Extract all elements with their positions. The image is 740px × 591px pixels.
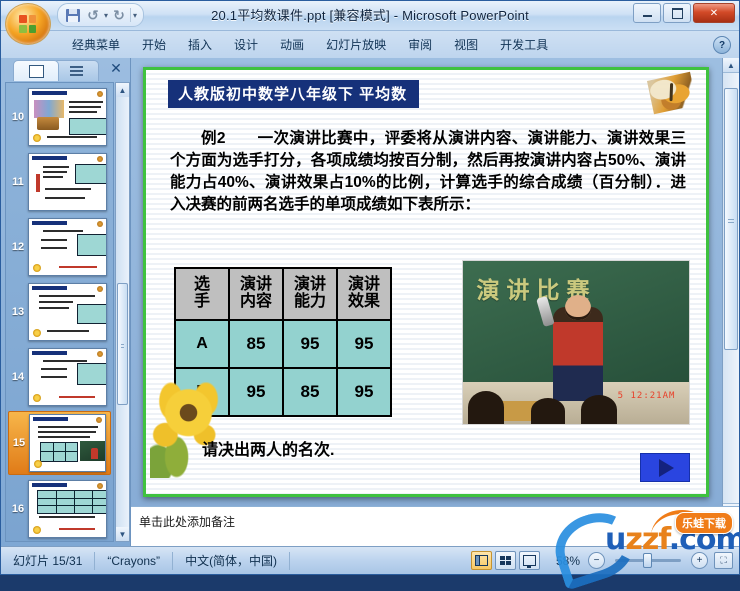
closing-question[interactable]: 请决出两人的名次. [202, 436, 334, 460]
audience-head [581, 395, 617, 424]
zoom-slider-knob[interactable] [643, 553, 652, 568]
stage-scroll-up-icon[interactable]: ▲ [723, 58, 739, 73]
theme-name[interactable]: “Crayons” [95, 552, 173, 570]
slides-outline-pane: ✕ 10 [1, 58, 131, 546]
scroll-up-icon[interactable]: ▲ [116, 83, 129, 97]
window-title: 20.1平均数课件.ppt [兼容模式] - Microsoft PowerPo… [1, 5, 739, 24]
header-effect: 演讲 效果 [337, 268, 391, 320]
butterfly-icon [647, 72, 697, 114]
slide-thumbnail[interactable] [28, 88, 107, 146]
table-header-row: 选 手 演讲 内容 演讲 能力 演讲 效果 [175, 268, 391, 320]
status-bar: 幻灯片 15/31 “Crayons” 中文(简体，中国) 58% − + ⛶ [1, 546, 739, 574]
list-item[interactable]: 11 [8, 151, 111, 213]
scroll-down-icon[interactable]: ▼ [116, 527, 129, 541]
slide-thumbnail[interactable] [28, 218, 107, 276]
tab-animations[interactable]: 动画 [269, 31, 315, 58]
tab-review[interactable]: 审阅 [397, 31, 443, 58]
slide-title-banner[interactable]: 人教版初中数学八年级下 平均数 [168, 80, 419, 108]
normal-view-icon [475, 555, 488, 566]
workspace: ✕ 10 [1, 58, 739, 546]
cell-a-effect: 95 [337, 320, 391, 368]
sunflower-icon [150, 382, 220, 478]
tab-view[interactable]: 视图 [443, 31, 489, 58]
header-content-line1: 演讲 [230, 277, 282, 294]
slide-thumbnail[interactable] [29, 414, 106, 472]
cell-a-ability: 95 [283, 320, 337, 368]
slide-thumbnail[interactable] [28, 480, 107, 538]
header-content-line2: 内容 [230, 294, 282, 311]
header-content: 演讲 内容 [229, 268, 283, 320]
tab-home[interactable]: 开始 [131, 31, 177, 58]
cell-b-content: 95 [229, 368, 283, 416]
slide-thumbnail[interactable] [28, 153, 107, 211]
office-orb-icon[interactable] [5, 3, 51, 45]
header-player-line2: 手 [176, 294, 228, 311]
tab-insert[interactable]: 插入 [177, 31, 223, 58]
header-effect-line2: 效果 [338, 294, 390, 311]
body-paragraph: 例2 一次演讲比赛中，评委将从演讲内容、演讲能力、演讲效果三个方面为选手打分，各… [170, 128, 686, 216]
view-buttons [471, 551, 548, 570]
list-item[interactable]: 10 [8, 86, 111, 148]
thumbnail-number: 11 [8, 176, 28, 188]
tab-classic-menu[interactable]: 经典菜单 [61, 31, 131, 58]
table-row: A 85 95 95 [175, 320, 391, 368]
cell-a-content: 85 [229, 320, 283, 368]
slide-thumbnail-list[interactable]: 10 11 [5, 82, 114, 542]
zoom-out-button[interactable]: − [588, 552, 605, 569]
slideshow-icon [523, 555, 536, 566]
help-icon[interactable]: ? [713, 36, 731, 54]
slide-sorter-icon [500, 556, 511, 565]
thumbnail-number: 13 [8, 306, 28, 318]
close-pane-icon[interactable]: ✕ [108, 60, 124, 76]
slide-sorter-view-button[interactable] [495, 551, 516, 570]
thumbnail-number: 15 [9, 437, 29, 449]
slide-body-text[interactable]: 例2 一次演讲比赛中，评委将从演讲内容、演讲能力、演讲效果三个方面为选手打分，各… [170, 128, 686, 216]
cell-b-effect: 95 [337, 368, 391, 416]
zoom-in-button[interactable]: + [691, 552, 708, 569]
list-item[interactable]: 12 [8, 216, 111, 278]
close-button[interactable]: ✕ [693, 3, 735, 23]
normal-view-button[interactable] [471, 551, 492, 570]
cell-b-ability: 85 [283, 368, 337, 416]
ribbon-tabs: 经典菜单 开始 插入 设计 动画 幻灯片放映 审阅 视图 开发工具 [61, 31, 559, 58]
slide-thumbnail[interactable] [28, 348, 107, 406]
ribbon-tab-bar: 经典菜单 开始 插入 设计 动画 幻灯片放映 审阅 视图 开发工具 ? [1, 31, 739, 59]
title-bar: ↺ ▾ ↻ ▾ 20.1平均数课件.ppt [兼容模式] - Microsoft… [1, 1, 739, 31]
minimize-button[interactable] [633, 3, 661, 23]
scrollbar-thumb[interactable] [117, 283, 128, 405]
notes-pane[interactable]: 单击此处添加备注 [131, 506, 739, 546]
powerpoint-window: ↺ ▾ ↻ ▾ 20.1平均数课件.ppt [兼容模式] - Microsoft… [0, 0, 740, 575]
slide-thumbnail[interactable] [28, 283, 107, 341]
audience-head [531, 398, 565, 424]
play-triangle-icon [659, 459, 674, 477]
slideshow-view-button[interactable] [519, 551, 540, 570]
notes-placeholder[interactable]: 单击此处添加备注 [131, 507, 739, 536]
outline-tab[interactable] [53, 60, 99, 81]
list-item[interactable]: 13 [8, 281, 111, 343]
list-item[interactable]: 16 [8, 478, 111, 540]
language-indicator[interactable]: 中文(简体，中国) [173, 552, 290, 570]
zoom-slider[interactable] [605, 554, 691, 568]
current-slide[interactable]: 人教版初中数学八年级下 平均数 例2 一次演讲比赛中，评委将从演讲内容、演讲能力… [143, 67, 709, 497]
thumbnail-scrollbar[interactable]: ▲ ▼ [115, 82, 130, 542]
header-player-line1: 选 [176, 277, 228, 294]
student-speaker [553, 307, 603, 402]
audience-head [468, 391, 504, 424]
list-item[interactable]: 14 [8, 346, 111, 408]
slide-counter[interactable]: 幻灯片 15/31 [1, 552, 95, 570]
thumbnail-number: 16 [8, 503, 28, 515]
header-ability-line1: 演讲 [284, 277, 336, 294]
slides-tab[interactable] [13, 60, 59, 81]
cell-player-a: A [175, 320, 229, 368]
zoom-level[interactable]: 58% [548, 554, 588, 568]
tab-design[interactable]: 设计 [223, 31, 269, 58]
header-ability: 演讲 能力 [283, 268, 337, 320]
window-controls: ✕ [633, 3, 735, 23]
tab-developer[interactable]: 开发工具 [489, 31, 559, 58]
header-ability-line2: 能力 [284, 294, 336, 311]
slide-editing-stage: 人教版初中数学八年级下 平均数 例2 一次演讲比赛中，评委将从演讲内容、演讲能力… [131, 58, 739, 546]
thumbnail-number: 12 [8, 241, 28, 253]
tab-slideshow[interactable]: 幻灯片放映 [315, 31, 397, 58]
camera-timestamp: 5 12:21AM [618, 391, 676, 401]
thumbnail-number: 14 [8, 371, 28, 383]
thumbnail-number: 10 [8, 111, 28, 123]
maximize-button[interactable] [663, 3, 691, 23]
stage-scrollbar[interactable]: ▲ ⏶ ▼ ⏷ [722, 58, 739, 546]
list-item-selected[interactable]: 15 [8, 411, 111, 475]
pane-tabs: ✕ [1, 58, 130, 80]
next-slide-button[interactable] [640, 453, 690, 482]
stage-scrollbar-thumb[interactable] [724, 88, 738, 350]
fit-to-window-button[interactable]: ⛶ [714, 552, 733, 569]
header-player: 选 手 [175, 268, 229, 320]
header-effect-line1: 演讲 [338, 277, 390, 294]
speech-contest-photo[interactable]: 演讲比赛 5 12:21AM [462, 260, 690, 425]
